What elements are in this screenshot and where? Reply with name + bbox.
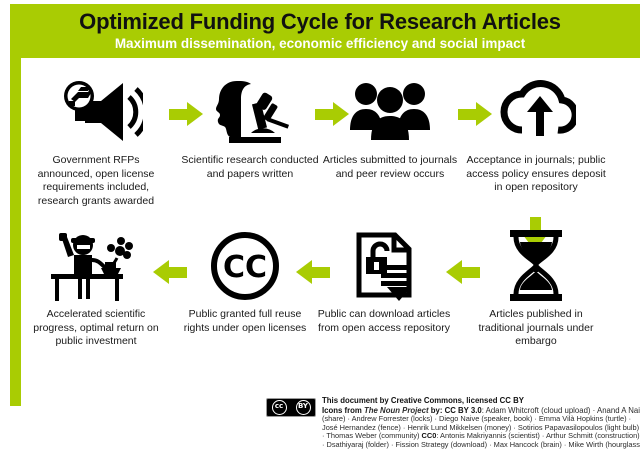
- flow-step-3-caption: Articles submitted to journals and peer …: [320, 154, 460, 181]
- document-unlock-download-icon: [314, 230, 454, 302]
- credit-block: cc BY This document by Creative Commons,…: [266, 396, 638, 449]
- flow-step-7-caption: Public granted full reuse rights under o…: [175, 308, 315, 335]
- credit-line-5-b: CC0: [422, 431, 437, 440]
- flow-row-top: Government RFPs announced, open license …: [0, 76, 640, 216]
- credit-text: This document by Creative Commons, licen…: [322, 396, 638, 449]
- cc-glyph-icon: cc: [272, 400, 287, 415]
- flow-step-3: Articles submitted to journals and peer …: [320, 76, 460, 181]
- credit-line-1: This document by Creative Commons, licen…: [322, 396, 638, 406]
- flow-step-5: Articles published in traditional journa…: [466, 230, 606, 349]
- page-subtitle: Maximum dissemination, economic efficien…: [10, 36, 630, 52]
- flow-step-4: Acceptance in journals; public access po…: [466, 76, 606, 195]
- group-of-people-icon: [320, 76, 460, 148]
- flow-step-4-caption: Acceptance in journals; public access po…: [466, 154, 606, 195]
- flow-step-2: Scientific research conducted and papers…: [180, 76, 320, 181]
- page-title: Optimized Funding Cycle for Research Art…: [10, 9, 630, 35]
- flow-step-1-caption: Government RFPs announced, open license …: [26, 154, 166, 208]
- flow-step-6-caption: Public can download articles from open a…: [314, 308, 454, 335]
- flow-step-6: Public can download articles from open a…: [314, 230, 454, 335]
- cloud-upload-icon: [466, 76, 606, 148]
- flow-step-8: Accelerated scientific progress, optimal…: [26, 230, 166, 349]
- by-glyph-icon: BY: [296, 400, 311, 415]
- flow-step-8-caption: Accelerated scientific progress, optimal…: [26, 308, 166, 349]
- header-banner: Optimized Funding Cycle for Research Art…: [10, 4, 640, 58]
- credit-line-5-a: · Thomas Weber (community): [322, 431, 422, 440]
- hourglass-icon: [466, 230, 606, 302]
- flow-step-2-caption: Scientific research conducted and papers…: [180, 154, 320, 181]
- cc-by-license-badge: cc BY: [266, 398, 316, 417]
- svg-text:CC: CC: [223, 250, 267, 285]
- credit-line-5-c: : Antonis Makriyannis (scientist) · Arth…: [436, 431, 639, 440]
- microscope-researcher-icon: [180, 76, 320, 148]
- megaphone-announcement-icon: [26, 76, 166, 148]
- credit-line-6: · Dsathiyaraj (folder) · Fission Strateg…: [322, 441, 638, 450]
- flow-row-bottom: Accelerated scientific progress, optimal…: [0, 230, 640, 375]
- scientist-celebrating-icon: [26, 230, 166, 302]
- infographic-page: Optimized Funding Cycle for Research Art…: [0, 0, 640, 476]
- flow-step-5-caption: Articles published in traditional journa…: [466, 308, 606, 349]
- flow-step-1: Government RFPs announced, open license …: [26, 76, 166, 208]
